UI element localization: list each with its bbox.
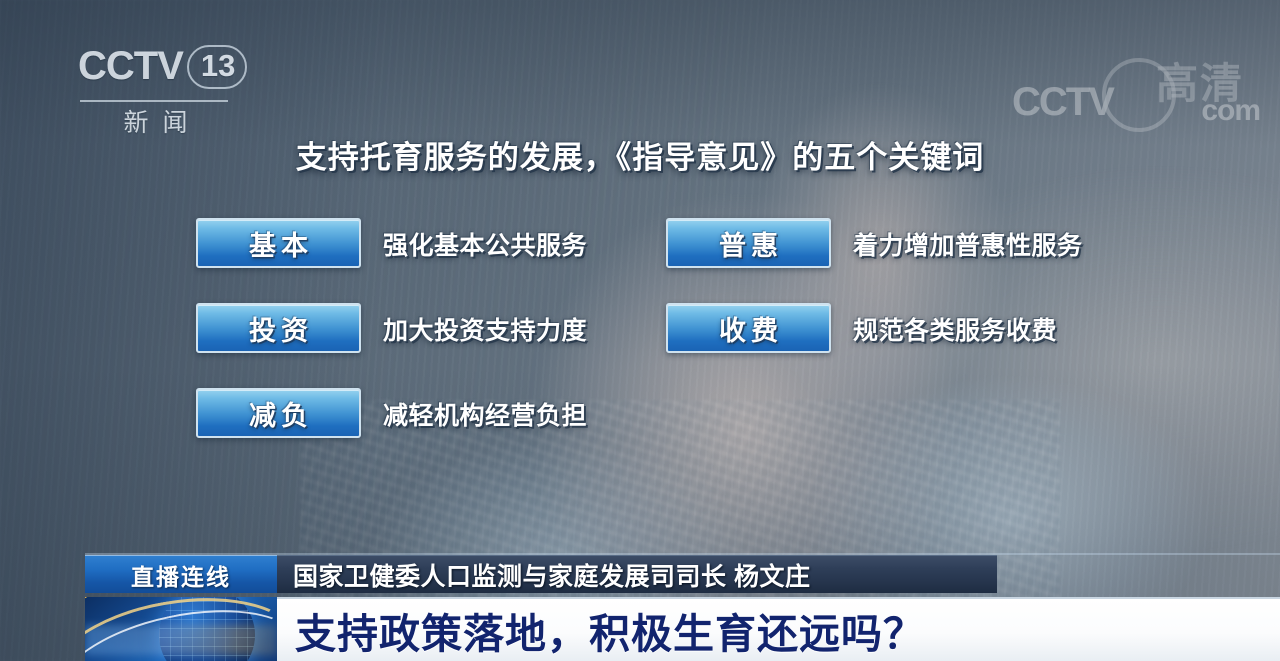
keyword-chip-jiben: 基本: [196, 218, 361, 268]
guest-title-bar: 国家卫健委人口监测与家庭发展司司长 杨文庄: [277, 555, 997, 593]
page-title: 支持托育服务的发展，《指导意见》的五个关键词: [0, 132, 1280, 177]
keyword-chip-puhui: 普惠: [666, 218, 831, 268]
channel-number: 13: [201, 48, 235, 84]
channel-logo-row: CCTV 13: [78, 44, 263, 89]
keyword-description: 减轻机构经营负担: [383, 396, 587, 432]
keyword-chip-label: 收费: [714, 309, 783, 348]
keyword-item-touzi: 投资 加大投资支持力度: [196, 303, 666, 388]
keyword-chip-label: 投资: [244, 309, 313, 348]
keyword-chip-jianfu: 减负: [196, 388, 361, 438]
watermark-ring-icon: [1102, 58, 1176, 132]
keyword-chip-touzi: 投资: [196, 303, 361, 353]
lower-third-top-row: 直播连线 国家卫健委人口监测与家庭发展司司长 杨文庄: [85, 555, 997, 593]
keyword-grid: 基本 强化基本公共服务 普惠 着力增加普惠性服务 投资 加大投资支持力度 收费 …: [196, 218, 1136, 473]
keyword-description: 着力增加普惠性服务: [853, 226, 1083, 262]
keyword-chip-label: 普惠: [714, 224, 783, 263]
headline-bar: 支持政策落地，积极生育还远吗？: [277, 597, 1280, 661]
headline-text: 支持政策落地，积极生育还远吗？: [295, 600, 925, 660]
live-badge: 直播连线: [85, 555, 277, 593]
keyword-chip-shoufei: 收费: [666, 303, 831, 353]
channel-logo-underline: [80, 100, 228, 102]
live-badge-label: 直播连线: [131, 558, 231, 592]
guest-title-label: 国家卫健委人口监测与家庭发展司司长 杨文庄: [293, 557, 810, 593]
cctv-wordmark: CCTV: [78, 44, 183, 89]
cctv-com-watermark: 高清 CCTV com: [1012, 52, 1262, 132]
keyword-item-jiben: 基本 强化基本公共服务: [196, 218, 666, 303]
broadcast-frame: CCTV 13 新闻 高清 CCTV com 支持托育服务的发展，《指导意见》的…: [0, 0, 1280, 661]
keyword-chip-label: 基本: [244, 224, 313, 263]
watermark-com-text: com: [1201, 94, 1260, 128]
keyword-description: 加大投资支持力度: [383, 311, 587, 347]
keyword-item-jianfu: 减负 减轻机构经营负担: [196, 388, 666, 473]
channel-logo: CCTV 13 新闻: [78, 44, 263, 139]
lower-third: 直播连线 国家卫健委人口监测与家庭发展司司长 杨文庄 支持政策落地，积极生育还远…: [0, 553, 1280, 661]
watermark-cctv-text: CCTV: [1012, 80, 1113, 125]
keyword-chip-label: 减负: [244, 394, 313, 433]
keyword-description: 规范各类服务收费: [853, 311, 1057, 347]
keyword-item-shoufei: 收费 规范各类服务收费: [666, 303, 1136, 388]
channel-number-badge: 13: [187, 45, 247, 89]
keyword-item-puhui: 普惠 着力增加普惠性服务: [666, 218, 1136, 303]
globe-graphic: [85, 597, 277, 661]
keyword-description: 强化基本公共服务: [383, 226, 587, 262]
